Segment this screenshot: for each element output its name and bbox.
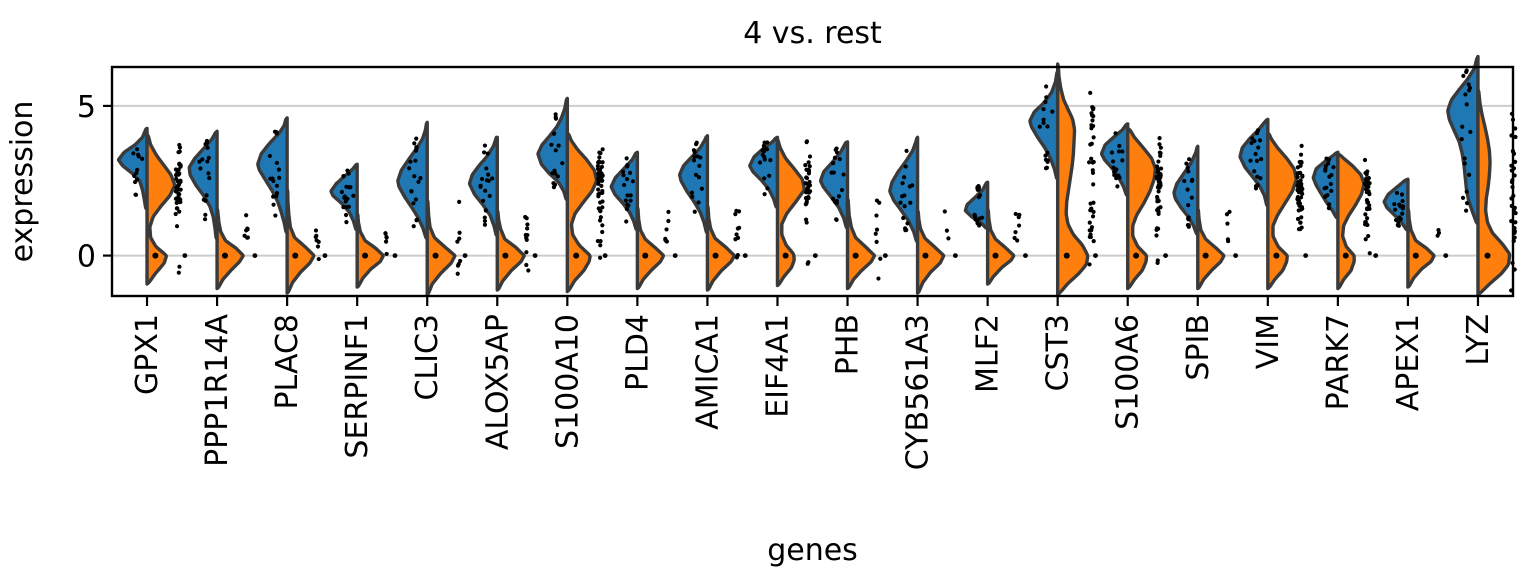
scatter-dot xyxy=(177,210,181,214)
scatter-dot xyxy=(1323,169,1327,173)
scatter-dot xyxy=(1041,107,1045,111)
scatter-dot-zero xyxy=(253,253,258,258)
scatter-dot-zero xyxy=(533,253,538,258)
ytick-label-0: 0 xyxy=(77,240,96,275)
scatter-dot xyxy=(625,207,629,211)
scatter-dot xyxy=(481,199,485,203)
y-axis-label: expression xyxy=(5,101,40,263)
scatter-dot xyxy=(598,191,602,195)
xtick-label-EIF4A1: EIF4A1 xyxy=(760,314,795,418)
scatter-dot-zero xyxy=(433,253,439,259)
scatter-dot xyxy=(1156,159,1160,163)
scatter-dot xyxy=(1397,215,1401,219)
scatter-dot xyxy=(483,223,487,227)
scatter-dot xyxy=(525,226,529,230)
scatter-dot-zero xyxy=(292,253,298,259)
scatter-dot xyxy=(1158,154,1162,158)
scatter-dot xyxy=(384,240,388,244)
scatter-dot xyxy=(556,174,560,178)
scatter-dot xyxy=(1111,166,1115,170)
scatter-dot xyxy=(177,265,181,269)
scatter-dot xyxy=(631,179,635,183)
scatter-dot xyxy=(1158,205,1162,209)
scatter-dot xyxy=(1252,169,1256,173)
xtick-label-PLD4: PLD4 xyxy=(620,314,655,391)
scatter-dot xyxy=(829,170,833,174)
scatter-dot xyxy=(910,183,914,187)
scatter-dot xyxy=(808,154,812,158)
scatter-dot xyxy=(694,173,698,177)
scatter-dot xyxy=(348,185,352,189)
scatter-dot xyxy=(1014,212,1018,216)
xtick-label-SPIB: SPIB xyxy=(1181,314,1216,381)
scatter-dot xyxy=(198,166,202,170)
scatter-dot xyxy=(1112,170,1116,174)
scatter-dot xyxy=(1468,130,1472,134)
scatter-dot xyxy=(174,197,178,201)
scatter-dot xyxy=(1460,137,1464,141)
scatter-dot xyxy=(833,156,837,160)
scatter-dot xyxy=(1299,182,1303,186)
scatter-dot xyxy=(1398,204,1402,208)
scatter-dot xyxy=(908,201,912,205)
scatter-dot xyxy=(1087,262,1091,266)
scatter-dot xyxy=(737,226,741,230)
scatter-dot xyxy=(1296,217,1300,221)
scatter-dot-zero xyxy=(1233,253,1238,258)
scatter-dot xyxy=(1299,164,1303,168)
scatter-dot xyxy=(551,181,555,185)
scatter-dot xyxy=(1113,131,1117,135)
scatter-dot xyxy=(598,239,602,243)
scatter-dot xyxy=(1463,156,1467,160)
scatter-dot xyxy=(601,160,605,164)
scatter-dot xyxy=(598,243,602,247)
scatter-dot xyxy=(409,189,413,193)
scatter-dot-zero xyxy=(1064,253,1070,259)
scatter-dot xyxy=(1041,121,1045,125)
scatter-dot xyxy=(693,150,697,154)
scatter-dot xyxy=(624,198,628,202)
scatter-dot xyxy=(876,276,880,280)
scatter-dot xyxy=(1392,202,1396,206)
scatter-dot xyxy=(314,234,318,238)
scatter-dot xyxy=(1364,237,1368,241)
xtick-label-CST3: CST3 xyxy=(1041,314,1076,391)
scatter-dot xyxy=(552,131,556,135)
scatter-dot xyxy=(457,237,461,241)
scatter-dot xyxy=(1295,188,1299,192)
scatter-dot xyxy=(244,213,248,217)
scatter-dot xyxy=(271,203,275,207)
scatter-dot xyxy=(205,141,209,145)
scatter-dot xyxy=(875,240,879,244)
scatter-dot xyxy=(625,177,629,181)
chart-title: 4 vs. rest xyxy=(743,16,882,51)
scatter-dot xyxy=(203,213,207,217)
xtick-label-PARK7: PARK7 xyxy=(1321,314,1356,410)
scatter-dot xyxy=(131,151,135,155)
scatter-dot xyxy=(1461,74,1465,78)
scatter-dot xyxy=(407,166,411,170)
scatter-dot-zero xyxy=(813,253,818,258)
scatter-dot-zero xyxy=(673,253,678,258)
xtick-label-CYB561A3: CYB561A3 xyxy=(901,314,936,470)
scatter-dot xyxy=(200,157,204,161)
scatter-dot xyxy=(414,147,418,151)
scatter-dot xyxy=(345,205,349,209)
scatter-dot xyxy=(1436,234,1440,238)
scatter-dot xyxy=(526,268,530,272)
scatter-dot-zero xyxy=(1443,253,1448,258)
xtick-label-SERPINF1: SERPINF1 xyxy=(340,314,375,459)
scatter-dot xyxy=(1255,131,1259,135)
scatter-dot-zero xyxy=(1413,253,1419,259)
scatter-dot xyxy=(268,177,272,181)
scatter-dot xyxy=(1187,157,1191,161)
scatter-dot xyxy=(482,150,486,154)
scatter-dot xyxy=(385,252,389,256)
scatter-dot xyxy=(1044,95,1048,99)
scatter-dot-zero xyxy=(713,253,719,259)
scatter-dot-zero xyxy=(1163,253,1168,258)
scatter-dot xyxy=(1298,220,1302,224)
scatter-dot xyxy=(904,164,908,168)
scatter-dot xyxy=(1465,68,1469,72)
scatter-dot xyxy=(1092,239,1096,243)
scatter-dot xyxy=(765,140,769,144)
scatter-dot xyxy=(277,168,281,172)
xtick-label-MLF2: MLF2 xyxy=(971,314,1006,393)
scatter-dot xyxy=(1088,221,1092,225)
scatter-dot xyxy=(205,159,209,163)
scatter-dot xyxy=(1225,221,1229,225)
scatter-dot xyxy=(768,158,772,162)
scatter-dot xyxy=(597,155,601,159)
scatter-dot xyxy=(1324,164,1328,168)
scatter-dot xyxy=(629,193,633,197)
scatter-dot xyxy=(1158,181,1162,185)
scatter-dot xyxy=(174,177,178,181)
scatter-dot xyxy=(805,176,809,180)
scatter-dot xyxy=(664,227,668,231)
scatter-dot xyxy=(1464,208,1468,212)
scatter-dot xyxy=(1155,164,1159,168)
scatter-dot xyxy=(488,194,492,198)
scatter-dot xyxy=(625,202,629,206)
xtick-label-LYZ: LYZ xyxy=(1461,314,1496,366)
scatter-dot xyxy=(1154,233,1158,237)
scatter-dot-zero xyxy=(182,253,187,258)
scatter-dot xyxy=(804,190,808,194)
scatter-dot xyxy=(805,140,809,144)
x-axis-label: genes xyxy=(767,533,858,568)
scatter-dot xyxy=(1226,239,1230,243)
scatter-dot xyxy=(758,160,762,164)
scatter-dot xyxy=(1400,199,1404,203)
scatter-dot xyxy=(344,213,348,217)
scatter-dot xyxy=(664,239,668,243)
scatter-dot xyxy=(1186,169,1190,173)
scatter-dot xyxy=(1364,176,1368,180)
scatter-dot xyxy=(1363,212,1367,216)
scatter-dot xyxy=(624,219,628,223)
scatter-dot xyxy=(175,224,179,228)
scatter-dot xyxy=(525,222,529,226)
scatter-dot xyxy=(694,142,698,146)
scatter-dot xyxy=(1329,182,1333,186)
scatter-dot xyxy=(808,164,812,168)
scatter-dot xyxy=(690,195,694,199)
scatter-dot xyxy=(600,178,604,182)
scatter-dot xyxy=(1044,158,1048,162)
scatter-dot xyxy=(1255,159,1259,163)
scatter-dot xyxy=(878,257,882,261)
scatter-dot xyxy=(554,148,558,152)
scatter-dot xyxy=(458,259,462,263)
scatter-dot xyxy=(804,217,808,221)
scatter-dot xyxy=(204,193,208,197)
scatter-dot xyxy=(1295,175,1299,179)
scatter-dot xyxy=(734,209,738,213)
scatter-dot xyxy=(875,228,879,232)
scatter-dot-zero xyxy=(152,253,158,259)
scatter-dot xyxy=(314,228,318,232)
scatter-dot xyxy=(902,175,906,179)
scatter-dot xyxy=(245,227,249,231)
scatter-dot xyxy=(1396,223,1400,227)
scatter-dot xyxy=(1366,189,1370,193)
scatter-dot xyxy=(1299,153,1303,157)
scatter-dot xyxy=(1190,178,1194,182)
xtick-label-CLIC3: CLIC3 xyxy=(410,314,445,401)
scatter-dot xyxy=(1296,171,1300,175)
scatter-dot xyxy=(1157,189,1161,193)
scatter-dot xyxy=(1249,141,1253,145)
scatter-dot-zero xyxy=(1303,253,1308,258)
scatter-dot xyxy=(736,236,740,240)
scatter-dot xyxy=(1254,152,1258,156)
scatter-dot xyxy=(415,218,419,222)
scatter-dot xyxy=(628,171,632,175)
scatter-dot-zero xyxy=(323,253,328,258)
scatter-dot xyxy=(1158,172,1162,176)
scatter-dot xyxy=(1015,238,1019,242)
scatter-dot xyxy=(1400,192,1404,196)
scatter-dot-zero xyxy=(883,253,888,258)
scatter-dot xyxy=(1117,144,1121,148)
scatter-dot xyxy=(203,199,207,203)
scatter-dot xyxy=(1120,158,1124,162)
scatter-dot-zero xyxy=(642,253,648,259)
scatter-dot xyxy=(973,215,977,219)
scatter-dot-zero xyxy=(502,253,508,259)
scatter-dot xyxy=(600,230,604,234)
scatter-dot xyxy=(1227,210,1231,214)
scatter-dot xyxy=(1327,202,1331,206)
scatter-dot xyxy=(1050,110,1054,114)
scatter-dot xyxy=(600,174,604,178)
scatter-dot xyxy=(1363,171,1367,175)
scatter-dot xyxy=(273,213,277,217)
scatter-dot xyxy=(598,209,602,213)
scatter-dot-zero xyxy=(1203,253,1209,259)
scatter-dot xyxy=(203,217,207,221)
scatter-dot xyxy=(666,210,670,214)
scatter-dot xyxy=(1045,151,1049,155)
ytick-label-5: 5 xyxy=(77,90,96,125)
scatter-dot-zero xyxy=(853,253,859,259)
scatter-dot xyxy=(525,216,529,220)
scatter-dot xyxy=(904,149,908,153)
scatter-dot xyxy=(457,231,461,235)
scatter-dot-zero xyxy=(393,253,398,258)
scatter-dot xyxy=(1300,187,1304,191)
scatter-dot xyxy=(1154,228,1158,232)
scatter-dot xyxy=(1088,91,1092,95)
scatter-dot xyxy=(1465,102,1469,106)
scatter-dot xyxy=(1091,168,1095,172)
scatter-dot xyxy=(803,163,807,167)
scatter-dot xyxy=(1364,183,1368,187)
scatter-dot xyxy=(412,141,416,145)
scatter-dot-zero xyxy=(1133,253,1139,259)
scatter-dot xyxy=(317,257,321,261)
scatter-dot xyxy=(946,236,950,240)
scatter-dot xyxy=(135,147,139,151)
scatter-dot xyxy=(975,219,979,223)
scatter-dot xyxy=(1393,208,1397,212)
scatter-dot xyxy=(1365,216,1369,220)
scatter-dot xyxy=(760,148,764,152)
scatter-dot xyxy=(1089,201,1093,205)
scatter-dot xyxy=(484,166,488,170)
scatter-dot xyxy=(277,176,281,180)
scatter-dot xyxy=(806,260,810,264)
scatter-dot xyxy=(837,194,841,198)
scatter-dot xyxy=(490,176,494,180)
scatter-dot-zero xyxy=(222,253,228,259)
scatter-dot xyxy=(700,187,704,191)
scatter-dot xyxy=(484,208,488,212)
scatter-dot xyxy=(176,150,180,154)
scatter-dot xyxy=(134,193,138,197)
scatter-dot xyxy=(1190,196,1194,200)
scatter-dot xyxy=(596,187,600,191)
scatter-dot-zero xyxy=(922,253,928,259)
scatter-dot xyxy=(834,148,838,152)
scatter-dot xyxy=(1258,176,1262,180)
scatter-dot-zero xyxy=(362,253,368,259)
scatter-dot xyxy=(456,272,460,276)
scatter-dot-zero xyxy=(573,253,579,259)
scatter-dot xyxy=(1467,88,1471,92)
scatter-dot xyxy=(1017,223,1021,227)
scatter-dot xyxy=(176,172,180,176)
scatter-dot xyxy=(274,131,278,135)
scatter-dot xyxy=(600,205,604,209)
scatter-dot xyxy=(1186,166,1190,170)
scatter-dot xyxy=(840,188,844,192)
scatter-dot xyxy=(901,216,905,220)
scatter-dot xyxy=(1157,142,1161,146)
scatter-dot xyxy=(1013,230,1017,234)
scatter-dot xyxy=(1114,176,1118,180)
xtick-label-VIM: VIM xyxy=(1251,314,1286,369)
scatter-dot xyxy=(1467,82,1471,86)
scatter-dot xyxy=(1460,125,1464,129)
scatter-dot xyxy=(456,264,460,268)
scatter-dot xyxy=(275,161,279,165)
scatter-dot-zero xyxy=(1343,253,1349,259)
scatter-dot xyxy=(135,168,139,172)
scatter-dot xyxy=(1300,144,1304,148)
scatter-dot xyxy=(174,167,178,171)
scatter-dot xyxy=(1157,136,1161,140)
scatter-dot xyxy=(1186,188,1190,192)
scatter-dot xyxy=(697,200,701,204)
scatter-dot xyxy=(807,180,811,184)
xtick-label-PLAC8: PLAC8 xyxy=(270,314,305,410)
scatter-dot xyxy=(1394,218,1398,222)
scatter-dot xyxy=(1155,261,1159,265)
scatter-dot xyxy=(486,151,490,155)
xtick-label-AMICA1: AMICA1 xyxy=(690,314,725,430)
scatter-dot-zero xyxy=(463,253,468,258)
scatter-dot xyxy=(478,184,482,188)
scatter-dot xyxy=(1327,206,1331,210)
scatter-dot xyxy=(179,188,183,192)
scatter-dot xyxy=(831,161,835,165)
scatter-dot xyxy=(1090,142,1094,146)
xtick-label-ALOX5AP: ALOX5AP xyxy=(480,314,515,450)
scatter-dot xyxy=(1091,214,1095,218)
scatter-dot xyxy=(761,153,765,157)
scatter-dot xyxy=(1186,217,1190,221)
scatter-dot xyxy=(767,174,771,178)
scatter-dot xyxy=(1091,182,1095,186)
xtick-label-GPX1: GPX1 xyxy=(130,314,165,395)
scatter-dot xyxy=(1368,251,1372,255)
scatter-dot xyxy=(1115,184,1119,188)
scatter-dot xyxy=(487,179,491,183)
scatter-dot xyxy=(1329,189,1333,193)
scatter-dot xyxy=(945,229,949,233)
scatter-dot xyxy=(483,143,487,147)
scatter-dot xyxy=(178,200,182,204)
violin-plot-figure: 05GPX1PPP1R14APLAC8SERPINF1CLIC3ALOX5APS… xyxy=(0,0,1537,586)
scatter-dot xyxy=(550,171,554,175)
scatter-dot xyxy=(1363,158,1367,162)
scatter-dot xyxy=(765,186,769,190)
scatter-dot xyxy=(554,112,558,116)
scatter-dot xyxy=(345,197,349,201)
scatter-dot xyxy=(1120,149,1124,153)
scatter-dot xyxy=(622,183,626,187)
scatter-dot xyxy=(457,200,461,204)
scatter-dot xyxy=(625,156,629,160)
figure-background xyxy=(0,0,1537,586)
scatter-dot xyxy=(1155,196,1159,200)
scatter-dot xyxy=(1256,145,1260,149)
scatter-dot xyxy=(1087,160,1091,164)
scatter-dot xyxy=(174,212,178,216)
scatter-dot xyxy=(900,181,904,185)
scatter-dot xyxy=(698,155,702,159)
scatter-dot xyxy=(1111,159,1115,163)
scatter-dot xyxy=(1296,197,1300,201)
scatter-dot xyxy=(137,154,141,158)
